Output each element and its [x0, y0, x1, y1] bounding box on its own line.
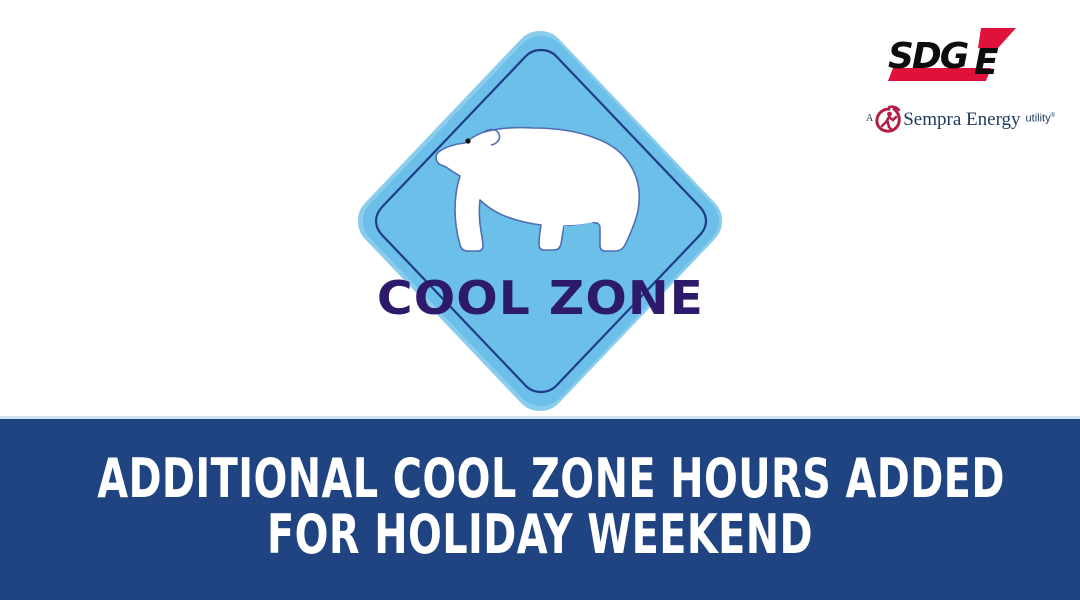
sdge-letters-sdg: SDG	[888, 36, 968, 77]
sempra-figure-head	[887, 112, 892, 117]
polar-bear-eye	[465, 138, 470, 143]
sdge-wordmark: SDG E	[866, 26, 1042, 88]
registered-mark: ®	[1051, 113, 1055, 119]
promo-graphic-canvas: COOL ZONE SDG E A	[0, 0, 1080, 600]
sdge-letter-e: E	[974, 42, 999, 83]
tagline-suffix: utility®	[1026, 113, 1055, 125]
headline-banner: ADDITIONAL COOL ZONE HOURS ADDED FOR HOL…	[0, 419, 1080, 600]
cool-zone-label: COOL ZONE	[377, 272, 704, 325]
tagline-brand-name: Sempra Energy	[903, 110, 1020, 129]
sdge-logo: SDG E A Sempra Energy utility®	[866, 26, 1042, 138]
cool-zone-sign-graphic: COOL ZONE	[355, 28, 725, 414]
sempra-energy-tagline: A Sempra Energy utility®	[866, 102, 1042, 136]
headline-text-block: ADDITIONAL COOL ZONE HOURS ADDED FOR HOL…	[0, 451, 1080, 563]
cool-zone-sign: COOL ZONE	[355, 28, 725, 414]
polar-bear-leg-gap	[564, 223, 596, 248]
sdge-wordmark-graphic: SDG E	[866, 26, 1042, 88]
sempra-swirl-figure-icon	[875, 105, 901, 133]
headline-line-2: FOR HOLIDAY WEEKEND	[97, 507, 983, 563]
headline-line-1: ADDITIONAL COOL ZONE HOURS ADDED	[97, 451, 983, 507]
tagline-prefix: A	[866, 114, 873, 124]
